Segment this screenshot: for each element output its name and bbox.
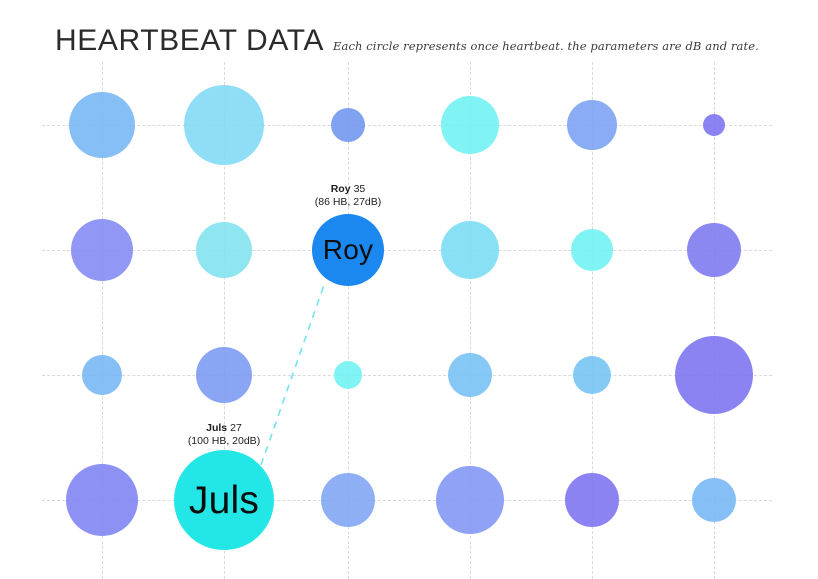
annotation-detail: (86 HB, 27dB) bbox=[315, 196, 382, 209]
annotation-detail: (100 HB, 20dB) bbox=[188, 435, 260, 448]
annotation-layer: Roy35(86 HB, 27dB)Juls27(100 HB, 20dB) bbox=[0, 0, 818, 579]
annot-juls: Juls27(100 HB, 20dB) bbox=[188, 422, 260, 448]
annotation-value: 27 bbox=[230, 422, 242, 434]
annotation-value: 35 bbox=[354, 183, 366, 195]
heartbeat-data-visualization: HEARTBEAT DATA Each circle represents on… bbox=[0, 0, 818, 579]
annotation-name: Roy bbox=[331, 183, 351, 195]
annotation-headline: Roy35 bbox=[315, 183, 382, 196]
annotation-headline: Juls27 bbox=[188, 422, 260, 435]
annotation-name: Juls bbox=[206, 422, 227, 434]
annot-roy: Roy35(86 HB, 27dB) bbox=[315, 183, 382, 209]
